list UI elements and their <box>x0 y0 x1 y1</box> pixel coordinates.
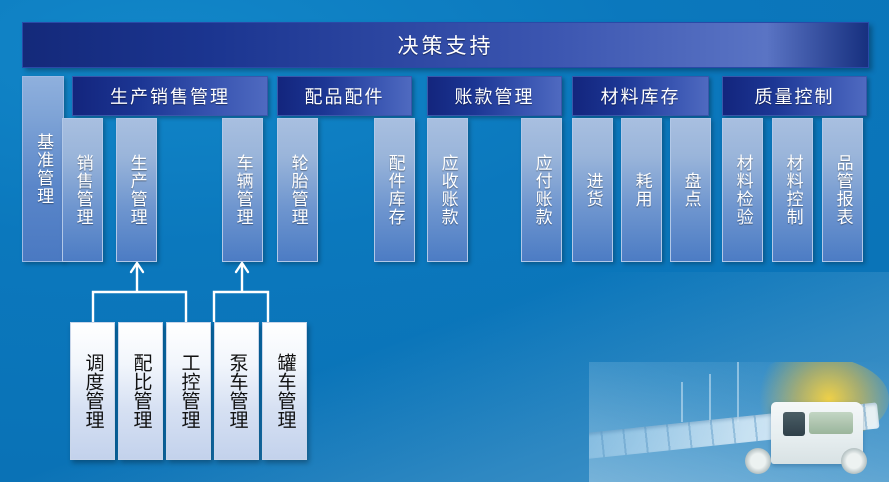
leaf-mix-ratio-management[interactable]: 配比管理 <box>118 322 163 460</box>
category-label: 质量控制 <box>755 83 835 109</box>
leaf-industrial-control-management[interactable]: 工控管理 <box>166 322 211 460</box>
leaf-label: 工控管理 <box>179 353 199 429</box>
truck-mast-icon <box>681 382 683 422</box>
left-column-baseline-management[interactable]: 基准管理 <box>22 76 64 262</box>
subitem-consumption[interactable]: 耗用 <box>621 118 662 262</box>
category-production-sales-management[interactable]: 生产销售管理 <box>72 76 268 116</box>
subitem-production-management[interactable]: 生产管理 <box>116 118 157 262</box>
subitem-label: 品管报表 <box>833 154 851 226</box>
category-quality-control[interactable]: 质量控制 <box>722 76 867 116</box>
left-column-label: 基准管理 <box>34 133 52 205</box>
truck-wheel <box>745 448 771 474</box>
subitem-label: 材料控制 <box>783 154 801 226</box>
subitem-label: 车辆管理 <box>233 154 251 226</box>
subitem-quality-report[interactable]: 品管报表 <box>822 118 863 262</box>
banner-title: 决策支持 <box>398 30 494 60</box>
truck-mast-icon <box>737 362 739 422</box>
leaf-label: 罐车管理 <box>275 353 295 429</box>
subitem-parts-inventory[interactable]: 配件库存 <box>374 118 415 262</box>
subitem-label: 销售管理 <box>73 154 91 226</box>
subitem-label: 应付账款 <box>532 154 550 226</box>
subitem-label: 进货 <box>583 172 601 208</box>
leaf-dispatch-management[interactable]: 调度管理 <box>70 322 115 460</box>
leaf-pump-truck-management[interactable]: 泵车管理 <box>214 322 259 460</box>
category-label: 材料库存 <box>601 83 681 109</box>
leaf-label: 配比管理 <box>131 353 151 429</box>
subitem-material-inspection[interactable]: 材料检验 <box>722 118 763 262</box>
subitem-label: 生产管理 <box>127 154 145 226</box>
subitem-accounts-payable[interactable]: 应付账款 <box>521 118 562 262</box>
subitem-label: 轮胎管理 <box>288 154 306 226</box>
subitem-label: 耗用 <box>632 172 650 208</box>
category-label: 账款管理 <box>455 83 535 109</box>
banner-decision-support: 决策支持 <box>22 22 869 68</box>
category-accounts-management[interactable]: 账款管理 <box>427 76 562 116</box>
subitem-stocktaking[interactable]: 盘点 <box>670 118 711 262</box>
truck-mast-icon <box>709 374 711 422</box>
subitem-label: 盘点 <box>681 172 699 208</box>
subitem-purchasing[interactable]: 进货 <box>572 118 613 262</box>
category-label: 生产销售管理 <box>110 83 230 109</box>
subitem-tire-management[interactable]: 轮胎管理 <box>277 118 318 262</box>
truck-window-side <box>783 412 805 436</box>
subitem-material-control[interactable]: 材料控制 <box>772 118 813 262</box>
subitem-label: 材料检验 <box>733 154 751 226</box>
truck-photo <box>589 362 889 482</box>
subitem-accounts-receivable[interactable]: 应收账款 <box>427 118 468 262</box>
category-material-inventory[interactable]: 材料库存 <box>572 76 709 116</box>
leaf-tanker-truck-management[interactable]: 罐车管理 <box>262 322 307 460</box>
subitem-sales-management[interactable]: 销售管理 <box>62 118 103 262</box>
subitem-label: 配件库存 <box>385 154 403 226</box>
leaf-label: 调度管理 <box>83 353 103 429</box>
truck-window <box>809 412 853 434</box>
subitem-vehicle-management[interactable]: 车辆管理 <box>222 118 263 262</box>
category-parts-accessories[interactable]: 配品配件 <box>277 76 412 116</box>
subitem-label: 应收账款 <box>438 154 456 226</box>
truck-wheel <box>841 448 867 474</box>
category-label: 配品配件 <box>305 83 385 109</box>
leaf-label: 泵车管理 <box>227 353 247 429</box>
